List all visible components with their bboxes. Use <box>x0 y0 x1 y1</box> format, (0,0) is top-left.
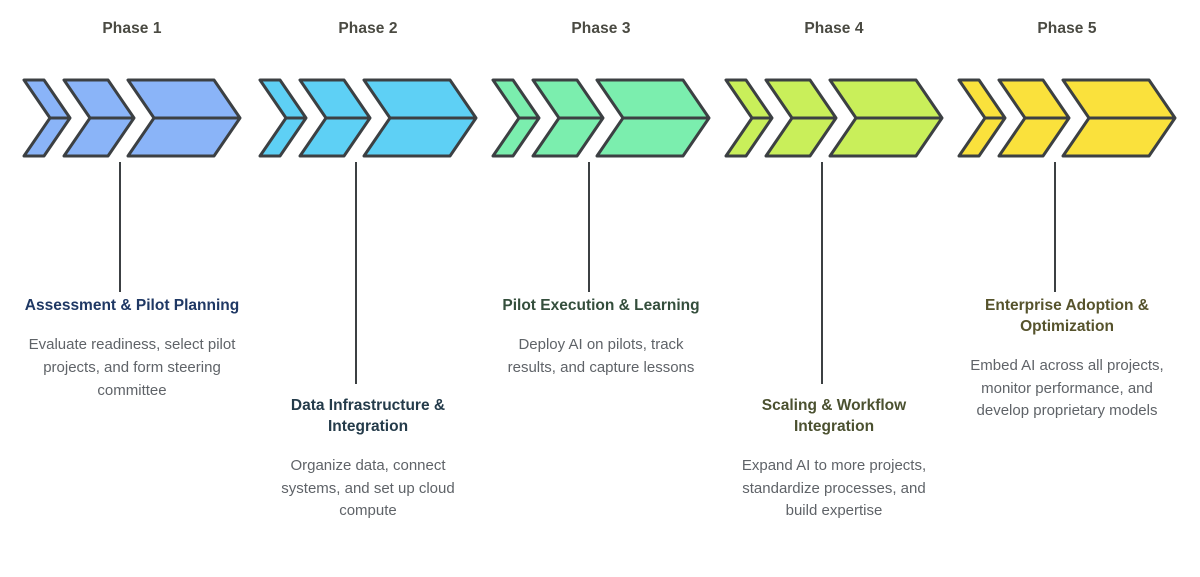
phase-header-label: Phase 2 <box>248 20 488 38</box>
connector-line <box>588 162 590 292</box>
phase-header-label: Phase 1 <box>12 20 252 38</box>
phase-text-block: Data Infrastructure & IntegrationOrganiz… <box>252 396 484 523</box>
phase-title: Pilot Execution & Learning <box>485 296 717 317</box>
chevron-group <box>20 78 244 158</box>
phase-text-block: Enterprise Adoption & OptimizationEmbed … <box>951 296 1183 423</box>
phase-column-2: Phase 2Data Infrastructure & Integration… <box>248 0 488 577</box>
connector-line <box>821 162 823 384</box>
phase-title: Data Infrastructure & Integration <box>252 396 484 438</box>
chevron-group <box>489 78 713 158</box>
phase-column-5: Phase 5Enterprise Adoption & Optimizatio… <box>947 0 1187 577</box>
chevron-group <box>722 78 946 158</box>
phase-description: Deploy AI on pilots, track results, and … <box>485 334 717 380</box>
phase-description: Expand AI to more projects, standardize … <box>718 455 950 523</box>
chevron-group <box>955 78 1179 158</box>
phase-header-label: Phase 5 <box>947 20 1187 38</box>
phase-text-block: Pilot Execution & LearningDeploy AI on p… <box>485 296 717 380</box>
connector-line <box>119 162 121 292</box>
phase-column-3: Phase 3Pilot Execution & LearningDeploy … <box>481 0 721 577</box>
phase-title: Scaling & Workflow Integration <box>718 396 950 438</box>
phase-text-block: Scaling & Workflow IntegrationExpand AI … <box>718 396 950 523</box>
phase-header-label: Phase 3 <box>481 20 721 38</box>
phase-text-block: Assessment & Pilot PlanningEvaluate read… <box>16 296 248 402</box>
phase-description: Embed AI across all projects, monitor pe… <box>951 355 1183 423</box>
roadmap-diagram: Phase 1Assessment & Pilot PlanningEvalua… <box>0 0 1200 577</box>
chevron-group <box>256 78 480 158</box>
phase-description: Evaluate readiness, select pilot project… <box>16 334 248 402</box>
phase-description: Organize data, connect systems, and set … <box>252 455 484 523</box>
connector-line <box>1054 162 1056 292</box>
phase-column-4: Phase 4Scaling & Workflow IntegrationExp… <box>714 0 954 577</box>
phase-title: Assessment & Pilot Planning <box>16 296 248 317</box>
phase-title: Enterprise Adoption & Optimization <box>951 296 1183 338</box>
connector-line <box>355 162 357 384</box>
phase-column-1: Phase 1Assessment & Pilot PlanningEvalua… <box>12 0 252 577</box>
phase-header-label: Phase 4 <box>714 20 954 38</box>
